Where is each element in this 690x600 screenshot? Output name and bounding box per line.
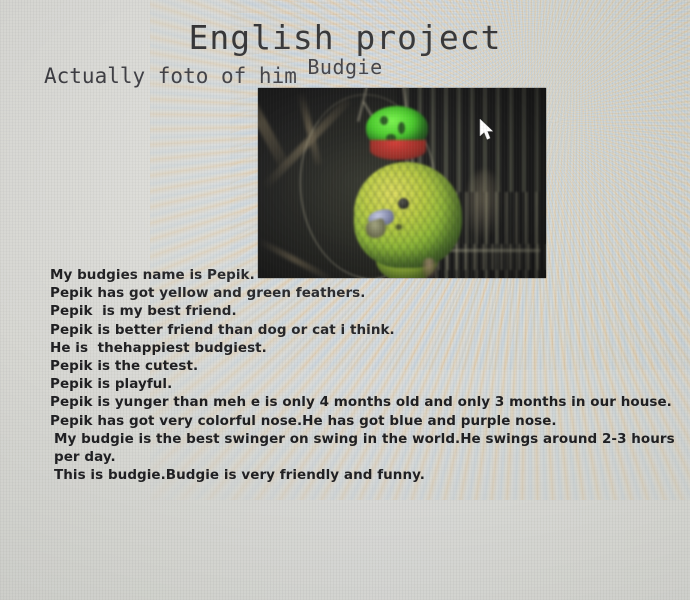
red-toy-ring	[370, 140, 426, 160]
body-line: My budgies name is Pepik.	[50, 266, 682, 284]
body-line: My budgie is the best swinger on swing i…	[50, 430, 682, 466]
body-line: Pepik has got very colorful nose.He has …	[50, 412, 682, 430]
photographed-screen: English project Budgie Actually foto of …	[0, 0, 690, 600]
body-line: Pepik is my best friend.	[50, 302, 682, 320]
body-line: Pepik has got yellow and green feathers.	[50, 284, 682, 302]
document-page: English project Budgie Actually foto of …	[0, 0, 690, 600]
cage-background-blob	[466, 170, 502, 240]
toy-hole	[398, 122, 405, 134]
body-line: He is thehappiest budgiest.	[50, 339, 682, 357]
body-line: This is budgie.Budgie is very friendly a…	[50, 466, 682, 484]
body-line: Pepik is better friend than dog or cat i…	[50, 321, 682, 339]
budgie-nostril	[396, 224, 402, 230]
body-line: Pepik is yunger than meh e is only 4 mon…	[50, 393, 682, 411]
body-line: Pepik is the cutest.	[50, 357, 682, 375]
toy-hole	[380, 116, 388, 125]
budgie-eye	[398, 198, 409, 209]
body-text-block: My budgies name is Pepik. Pepik has got …	[50, 266, 682, 484]
photo-caption: Actually foto of him	[44, 64, 297, 88]
body-line: Pepik is playful.	[50, 375, 682, 393]
photo-content	[258, 88, 546, 278]
page-title: English project	[0, 18, 690, 57]
budgie-photo	[258, 88, 546, 278]
